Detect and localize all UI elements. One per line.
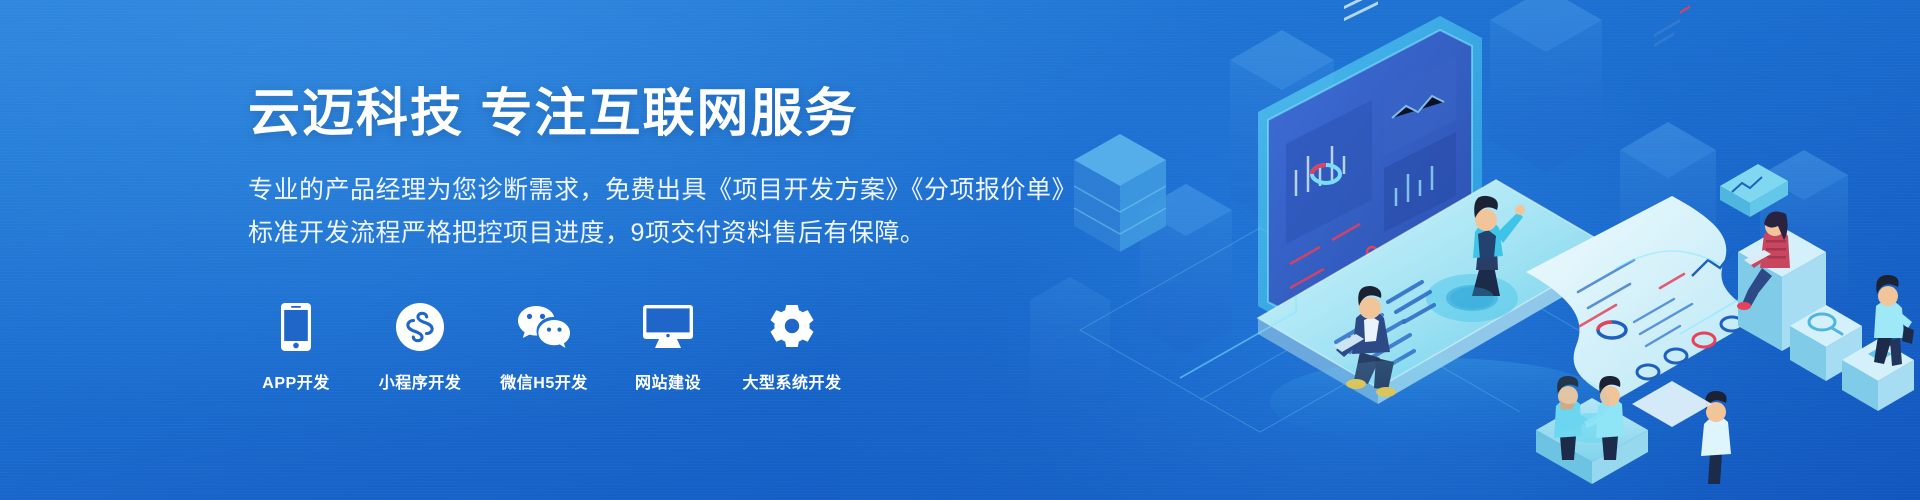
page-title: 云迈科技 专注互联网服务 bbox=[248, 86, 1077, 143]
hero-content: 云迈科技 专注互联网服务 专业的产品经理为您诊断需求，免费出具《项目开发方案》《… bbox=[248, 0, 1077, 500]
monitor-icon bbox=[643, 301, 693, 353]
service-label: 大型系统开发 bbox=[743, 369, 842, 393]
service-label: 小程序开发 bbox=[379, 369, 462, 393]
subtitle-line-2: 标准开发流程严格把控项目进度，9项交付资料售后有保障。 bbox=[248, 212, 1077, 255]
person-walking-steps bbox=[1874, 275, 1914, 366]
service-item-website[interactable]: 网站建设 bbox=[620, 301, 716, 393]
service-label: 网站建设 bbox=[635, 369, 701, 393]
service-item-wechat-h5[interactable]: 微信H5开发 bbox=[496, 301, 592, 393]
service-label: 微信H5开发 bbox=[500, 369, 587, 393]
service-item-miniprogram[interactable]: 小程序开发 bbox=[372, 301, 468, 393]
hero-subtitle: 专业的产品经理为您诊断需求，免费出具《项目开发方案》《分项报价单》 标准开发流程… bbox=[248, 169, 1077, 255]
wechat-icon bbox=[517, 301, 571, 353]
service-label: APP开发 bbox=[262, 369, 329, 393]
illustration-isometric-scene bbox=[1020, 0, 1920, 500]
service-list: APP开发 小程序开发 bbox=[248, 301, 1077, 393]
gear-icon bbox=[769, 301, 815, 353]
service-item-large-system[interactable]: 大型系统开发 bbox=[744, 301, 840, 393]
subtitle-line-1: 专业的产品经理为您诊断需求，免费出具《项目开发方案》《分项报价单》 bbox=[248, 176, 1077, 204]
service-item-app[interactable]: APP开发 bbox=[248, 301, 344, 393]
mobile-phone-icon bbox=[281, 301, 311, 353]
mini-program-icon bbox=[396, 301, 444, 353]
hero-banner: 云迈科技 专注互联网服务 专业的产品经理为您诊断需求，免费出具《项目开发方案》《… bbox=[0, 0, 1920, 500]
